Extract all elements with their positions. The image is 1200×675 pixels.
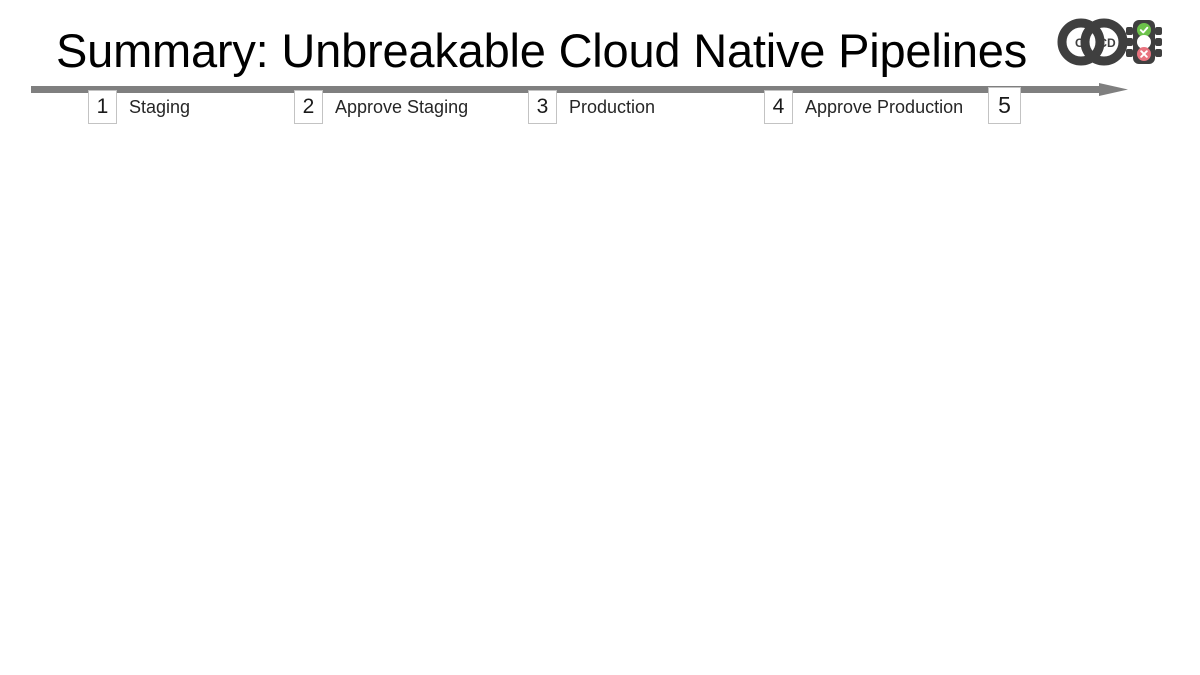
timeline-step-3[interactable]: 3 Production xyxy=(528,90,655,124)
timeline-step-4-label: Approve Production xyxy=(793,90,963,124)
timeline-step-3-label: Production xyxy=(557,90,655,124)
cd-ring-icon: CD xyxy=(1085,23,1123,61)
slide-canvas: Summary: Unbreakable Cloud Native Pipeli… xyxy=(0,0,1200,675)
timeline-step-2[interactable]: 2 Approve Staging xyxy=(294,90,468,124)
traffic-light-icon xyxy=(1126,20,1162,64)
ci-cd-traffic-light-logo: CI CD xyxy=(1049,16,1167,68)
timeline-step-1-label: Staging xyxy=(117,90,190,124)
timeline-step-5-number: 5 xyxy=(988,87,1021,124)
timeline-step-1[interactable]: 1 Staging xyxy=(88,90,190,124)
timeline-step-2-label: Approve Staging xyxy=(323,90,468,124)
timeline-step-2-number: 2 xyxy=(294,90,323,124)
svg-text:CD: CD xyxy=(1098,36,1116,50)
page-title: Summary: Unbreakable Cloud Native Pipeli… xyxy=(56,20,1036,82)
pipeline-timeline: 1 Staging 2 Approve Staging 3 Production… xyxy=(0,78,1200,133)
timeline-step-4-number: 4 xyxy=(764,90,793,124)
timeline-step-5[interactable]: 5 xyxy=(988,87,1021,121)
timeline-step-4[interactable]: 4 Approve Production xyxy=(764,90,963,124)
timeline-step-3-number: 3 xyxy=(528,90,557,124)
timeline-step-1-number: 1 xyxy=(88,90,117,124)
